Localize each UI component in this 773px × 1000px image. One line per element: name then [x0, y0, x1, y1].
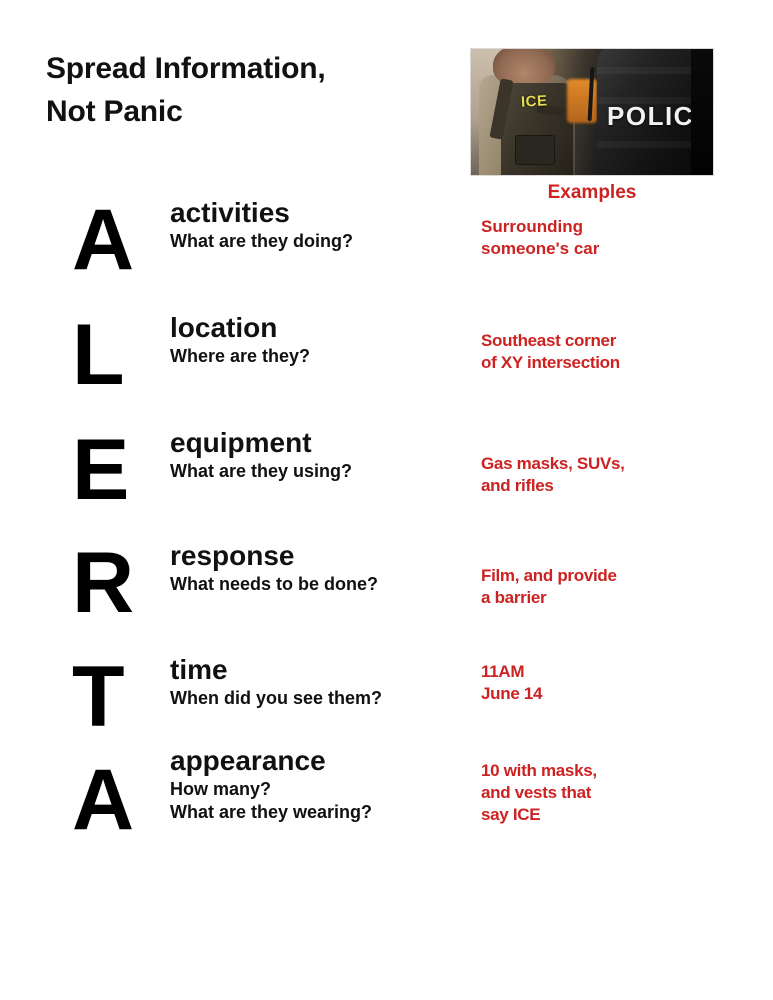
row-question-location: Where are they? [170, 346, 470, 368]
row-word-time: time [170, 655, 470, 685]
row-example-equipment: Gas masks, SUVs, and rifles [481, 453, 731, 497]
example-line: 11AM [481, 661, 731, 683]
example-line: of XY intersection [481, 352, 731, 374]
acronym-letter-r: R [72, 547, 182, 621]
ice-police-officers-photo: ICE POLICE [470, 48, 714, 176]
row-question-activities: What are they doing? [170, 231, 470, 253]
example-line: and rifles [481, 475, 731, 497]
row-word-response: response [170, 541, 470, 571]
acronym-letter-t: T [72, 661, 182, 735]
row-word-equipment: equipment [170, 428, 470, 458]
title-line-2: Not Panic [46, 91, 456, 134]
acronym-letter-a2: A [72, 764, 182, 838]
example-line: someone's car [481, 238, 731, 260]
row-word-appearance: appearance [170, 746, 470, 776]
row-question-appearance-1: How many? [170, 779, 470, 801]
photo-ice-vest-label: ICE [521, 92, 548, 110]
alerta-poster: Spread Information, Not Panic ICE POLICE… [0, 0, 773, 1000]
row-question-response: What needs to be done? [170, 574, 470, 596]
example-line: Southeast corner [481, 330, 731, 352]
photo-right-shadow [691, 49, 713, 175]
title-line-1: Spread Information, [46, 48, 456, 91]
example-line: Gas masks, SUVs, [481, 453, 731, 475]
row-example-location: Southeast corner of XY intersection [481, 330, 731, 374]
example-line: say ICE [481, 804, 731, 826]
example-line: 10 with masks, [481, 760, 731, 782]
acronym-letter-a1: A [72, 204, 182, 278]
acronym-letter-e: E [72, 434, 182, 508]
examples-heading: Examples [470, 182, 714, 204]
photo-vest-pouch [515, 135, 555, 165]
row-words-equipment: equipment What are they using? [170, 428, 470, 483]
row-question-appearance-2: What are they wearing? [170, 802, 470, 824]
row-example-time: 11AM June 14 [481, 661, 731, 705]
example-line: and vests that [481, 782, 731, 804]
row-words-activities: activities What are they doing? [170, 198, 470, 253]
acronym-letter-l: L [72, 319, 182, 393]
row-word-activities: activities [170, 198, 470, 228]
row-words-time: time When did you see them? [170, 655, 470, 710]
example-line: a barrier [481, 587, 731, 609]
example-line: Film, and provide [481, 565, 731, 587]
row-words-location: location Where are they? [170, 313, 470, 368]
example-line: Surrounding [481, 216, 731, 238]
row-words-response: response What needs to be done? [170, 541, 470, 596]
example-line: June 14 [481, 683, 731, 705]
row-example-activities: Surrounding someone's car [481, 216, 731, 260]
row-question-time: When did you see them? [170, 688, 470, 710]
row-example-response: Film, and provide a barrier [481, 565, 731, 609]
page-title: Spread Information, Not Panic [46, 48, 456, 133]
row-question-equipment: What are they using? [170, 461, 470, 483]
row-word-location: location [170, 313, 470, 343]
row-words-appearance: appearance How many? What are they weari… [170, 746, 470, 824]
row-example-appearance: 10 with masks, and vests that say ICE [481, 760, 731, 825]
